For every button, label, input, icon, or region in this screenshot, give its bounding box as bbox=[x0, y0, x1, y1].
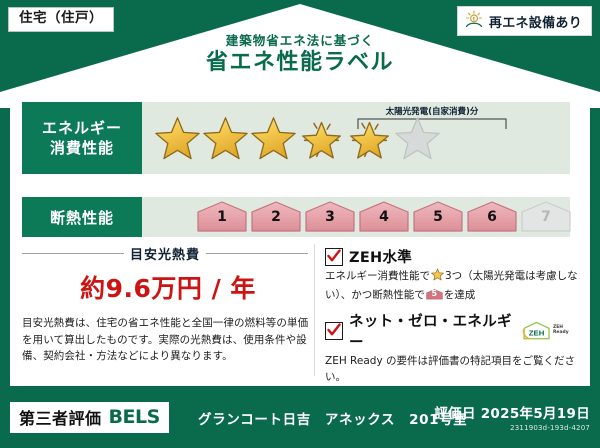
insulation-performance-label: 断熱性能 bbox=[22, 197, 142, 237]
house-type-label: 住宅（住戸） bbox=[19, 10, 103, 26]
utility-cost-note: 目安光熱費は、住宅の省エネ性能と全国一律の燃料等の単価を用いて算出したものです。… bbox=[22, 315, 314, 365]
star-empty bbox=[394, 115, 441, 162]
property-name: グランコート日吉 アネックス 201号室 bbox=[198, 408, 467, 428]
lower-section: 目安光熱費 約9.6万円 / 年 目安光熱費は、住宅の省エネ性能と全国一律の燃料… bbox=[22, 242, 578, 378]
insulation-level-number: 5 bbox=[412, 210, 464, 224]
zeh-logo-text: ZEH bbox=[529, 328, 545, 337]
certification-panel: ZEH水準 エネルギー消費性能で3つ（太陽光発電は考慮しない）、かつ断熱性能で5… bbox=[325, 242, 578, 378]
label-subtitle: 建築物省エネ法に基づく bbox=[0, 34, 600, 48]
zeh-desc-part1: エネルギー消費性能で bbox=[325, 270, 430, 282]
net-zero-title-row: ネット・ゼロ・エネルギー ZEH ZEH Ready bbox=[325, 310, 578, 352]
renewable-equipment-label: 再エネ設備あり bbox=[489, 12, 582, 31]
insulation-level-number: 6 bbox=[466, 210, 518, 224]
star-rating bbox=[154, 115, 441, 162]
energy-label-card: 住宅（住戸） E 再エネ設備あり 建築物省エネ法に基づく 省エネ性能ラベル bbox=[0, 0, 600, 448]
bels-badge: 第三者評価 BELS bbox=[10, 402, 169, 433]
utility-cost-panel: 目安光熱費 約9.6万円 / 年 目安光熱費は、住宅の省エネ性能と全国一律の燃料… bbox=[22, 242, 314, 378]
bels-logo-text: BELS bbox=[109, 406, 160, 428]
star-filled-solar bbox=[298, 115, 345, 162]
insulation-level-badge: 4 bbox=[358, 200, 410, 234]
utility-cost-heading: 目安光熱費 bbox=[22, 244, 308, 263]
zeh-desc-part3: を達成 bbox=[444, 289, 476, 301]
sun-icon: E bbox=[464, 10, 484, 32]
label-title: 省エネ性能ラベル bbox=[0, 49, 600, 77]
zeh-ready-text: ZEH Ready bbox=[553, 326, 578, 335]
insulation-level-badge: 3 bbox=[304, 200, 356, 234]
heading-rule-right bbox=[206, 253, 308, 254]
insulation-level-badge: 6 bbox=[466, 200, 518, 234]
energy-performance-row: エネルギー 消費性能 太陽光発電(自家消費)分 bbox=[22, 102, 570, 174]
insulation-level-number: 2 bbox=[250, 210, 302, 224]
star-filled bbox=[202, 115, 249, 162]
insulation-level-badge: 2 bbox=[250, 200, 302, 234]
insulation-levels: 1 2 3 4 5 bbox=[196, 200, 572, 234]
checkbox-checked-icon bbox=[325, 322, 343, 340]
insulation-performance-row: 断熱性能 1 2 3 bbox=[22, 197, 570, 237]
energy-performance-label: エネルギー 消費性能 bbox=[22, 102, 142, 174]
insulation-level-number: 4 bbox=[358, 210, 410, 224]
net-zero-label: ネット・ゼロ・エネルギー bbox=[349, 310, 512, 352]
energy-label-line1: エネルギー bbox=[42, 118, 122, 138]
renewable-equipment-badge: E 再エネ設備あり bbox=[457, 6, 592, 36]
third-party-eval-label: 第三者評価 bbox=[19, 405, 102, 429]
star-filled-solar bbox=[346, 115, 393, 162]
net-zero-description: ZEH Ready の要件は評価書の特記項目をご覧ください。 bbox=[325, 353, 578, 387]
utility-cost-heading-text: 目安光熱費 bbox=[130, 244, 200, 263]
star-icon bbox=[431, 272, 444, 284]
star-filled bbox=[154, 115, 201, 162]
heading-rule-left bbox=[22, 253, 124, 254]
checkbox-checked-icon bbox=[325, 248, 343, 266]
net-zero-energy-item: ネット・ゼロ・エネルギー ZEH ZEH Ready ZEH Ready の要件… bbox=[325, 310, 578, 387]
zeh-standard-item: ZEH水準 エネルギー消費性能で3つ（太陽光発電は考慮しない）、かつ断熱性能で5… bbox=[325, 246, 578, 304]
panel-divider bbox=[314, 244, 315, 376]
zeh-standard-title-row: ZEH水準 bbox=[325, 246, 578, 267]
insulation-level-badge: 1 bbox=[196, 200, 248, 234]
label-body: エネルギー 消費性能 太陽光発電(自家消費)分 bbox=[10, 92, 590, 386]
evaluation-date: 評価日 2025年5月19日 bbox=[434, 402, 590, 422]
star-filled bbox=[250, 115, 297, 162]
insulation-level-number: 3 bbox=[304, 210, 356, 224]
house-type-tag: 住宅（住戸） bbox=[8, 7, 114, 32]
footer-bar: 第三者評価 BELS グランコート日吉 アネックス 201号室 評価日 2025… bbox=[0, 392, 600, 448]
insulation-level-badge-inactive: 7 bbox=[520, 200, 572, 234]
label-title-group: 建築物省エネ法に基づく 省エネ性能ラベル bbox=[0, 34, 600, 76]
svg-text:E: E bbox=[472, 16, 475, 21]
insulation-rating-band: 1 2 3 4 5 bbox=[142, 197, 570, 237]
zeh-standard-description: エネルギー消費性能で3つ（太陽光発電は考慮しない）、かつ断熱性能で5を達成 bbox=[325, 268, 578, 304]
energy-label-line2: 消費性能 bbox=[50, 138, 114, 158]
insulation-level-number: 7 bbox=[520, 210, 572, 224]
insulation-level-number: 1 bbox=[196, 210, 248, 224]
insulation-label-text: 断熱性能 bbox=[50, 207, 114, 228]
insulation-badge-icon: 5 bbox=[426, 288, 443, 301]
energy-rating-band: 太陽光発電(自家消費)分 bbox=[142, 102, 570, 174]
zeh-logo-icon: ZEH ZEH Ready bbox=[521, 320, 578, 342]
insulation-level-badge: 5 bbox=[412, 200, 464, 234]
evaluation-id: 2311903d-193d-4207 bbox=[434, 424, 590, 432]
insulation-badge-number: 5 bbox=[426, 290, 443, 298]
zeh-standard-label: ZEH水準 bbox=[349, 246, 412, 267]
evaluation-info: 評価日 2025年5月19日 2311903d-193d-4207 bbox=[434, 402, 590, 432]
utility-cost-value: 約9.6万円 / 年 bbox=[22, 269, 314, 305]
